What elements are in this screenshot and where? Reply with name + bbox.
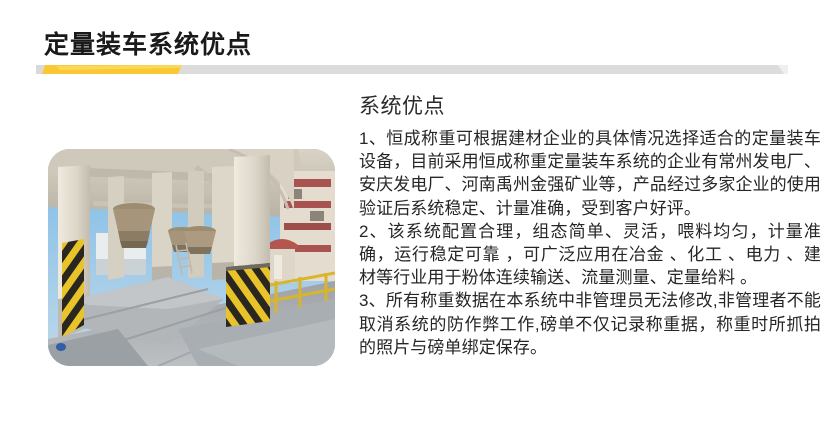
body-paragraph-1: 1、恒成称重可根据建材企业的具体情况选择适合的定量装车设备，目前采用恒成称重定量…	[359, 127, 821, 220]
loading-chute-3	[184, 226, 216, 254]
hazard-column-left	[62, 239, 84, 337]
page-title: 定量装车系统优点	[44, 29, 252, 61]
hazard-column-right	[226, 263, 270, 327]
loading-station-photo	[48, 149, 335, 366]
content-column: 系统优点 1、恒成称重可根据建材企业的具体情况选择适合的定量装车设备，目前采用恒…	[359, 92, 821, 359]
body-paragraph-3: 3、所有称重数据在本系统中非管理员无法修改,非管理者不能取消系统的防作弊工作,磅…	[359, 289, 821, 359]
body-paragraph-2: 2、该系统配置合理，组态简单、灵活，喂料均匀，计量准确，运行稳定可靠 ，可广泛应…	[359, 220, 821, 290]
title-underline-rule	[36, 63, 788, 74]
slide-canvas: 定量装车系统优点	[0, 0, 829, 448]
photo-illustration	[48, 149, 335, 366]
section-subheading: 系统优点	[359, 92, 821, 122]
rule-gray-segment	[178, 65, 788, 74]
